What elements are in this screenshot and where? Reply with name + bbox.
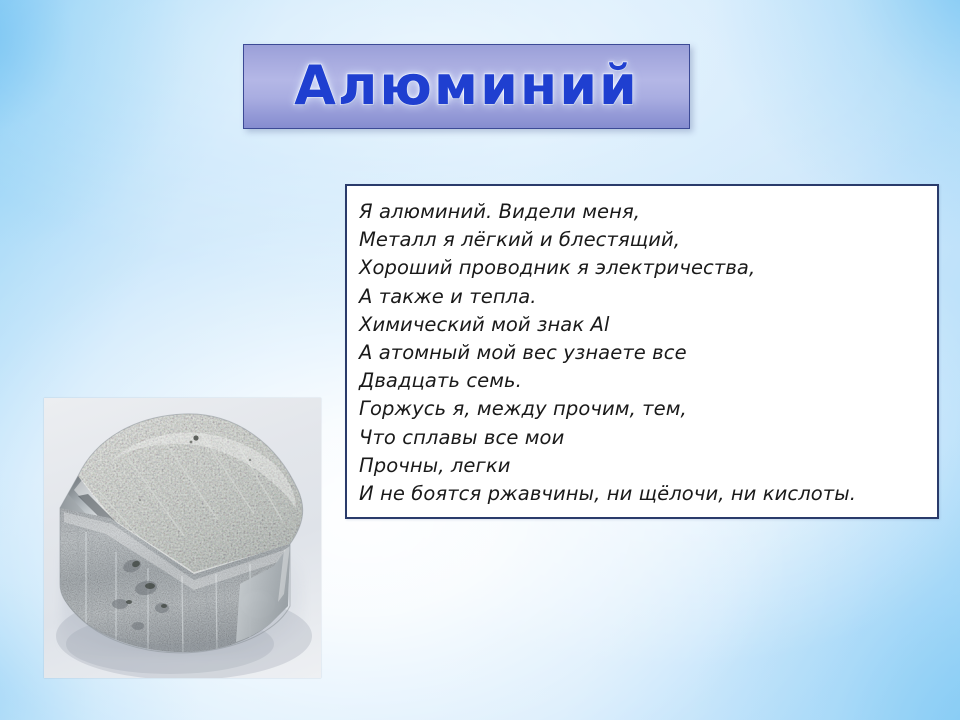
poem-line-list: Я алюминий. Видели меня, Металл я лёгкий…: [359, 198, 923, 508]
page-title: Алюминий: [294, 59, 639, 113]
poem-line: Химический мой знак Al: [359, 311, 923, 339]
poem-text-panel: Я алюминий. Видели меня, Металл я лёгкий…: [345, 184, 939, 519]
poem-line: Хороший проводник я электричества,: [359, 254, 923, 282]
poem-line: Горжусь я, между прочим, тем,: [359, 395, 923, 423]
poem-line: Что сплавы все мои: [359, 424, 923, 452]
poem-line: Металл я лёгкий и блестящий,: [359, 226, 923, 254]
aluminium-ingot-photo: [44, 398, 321, 678]
poem-line: И не боятся ржавчины, ни щёлочи, ни кисл…: [359, 480, 923, 508]
poem-line: Двадцать семь.: [359, 367, 923, 395]
poem-line: Прочны, легки: [359, 452, 923, 480]
presentation-slide: Алюминий Я алюминий. Видели меня, Металл…: [0, 0, 960, 720]
title-plaque: Алюминий: [243, 44, 690, 129]
ingot-illustration: [44, 398, 321, 678]
poem-line: А также и тепла.: [359, 283, 923, 311]
poem-line: А атомный мой вес узнаете все: [359, 339, 923, 367]
poem-line: Я алюминий. Видели меня,: [359, 198, 923, 226]
